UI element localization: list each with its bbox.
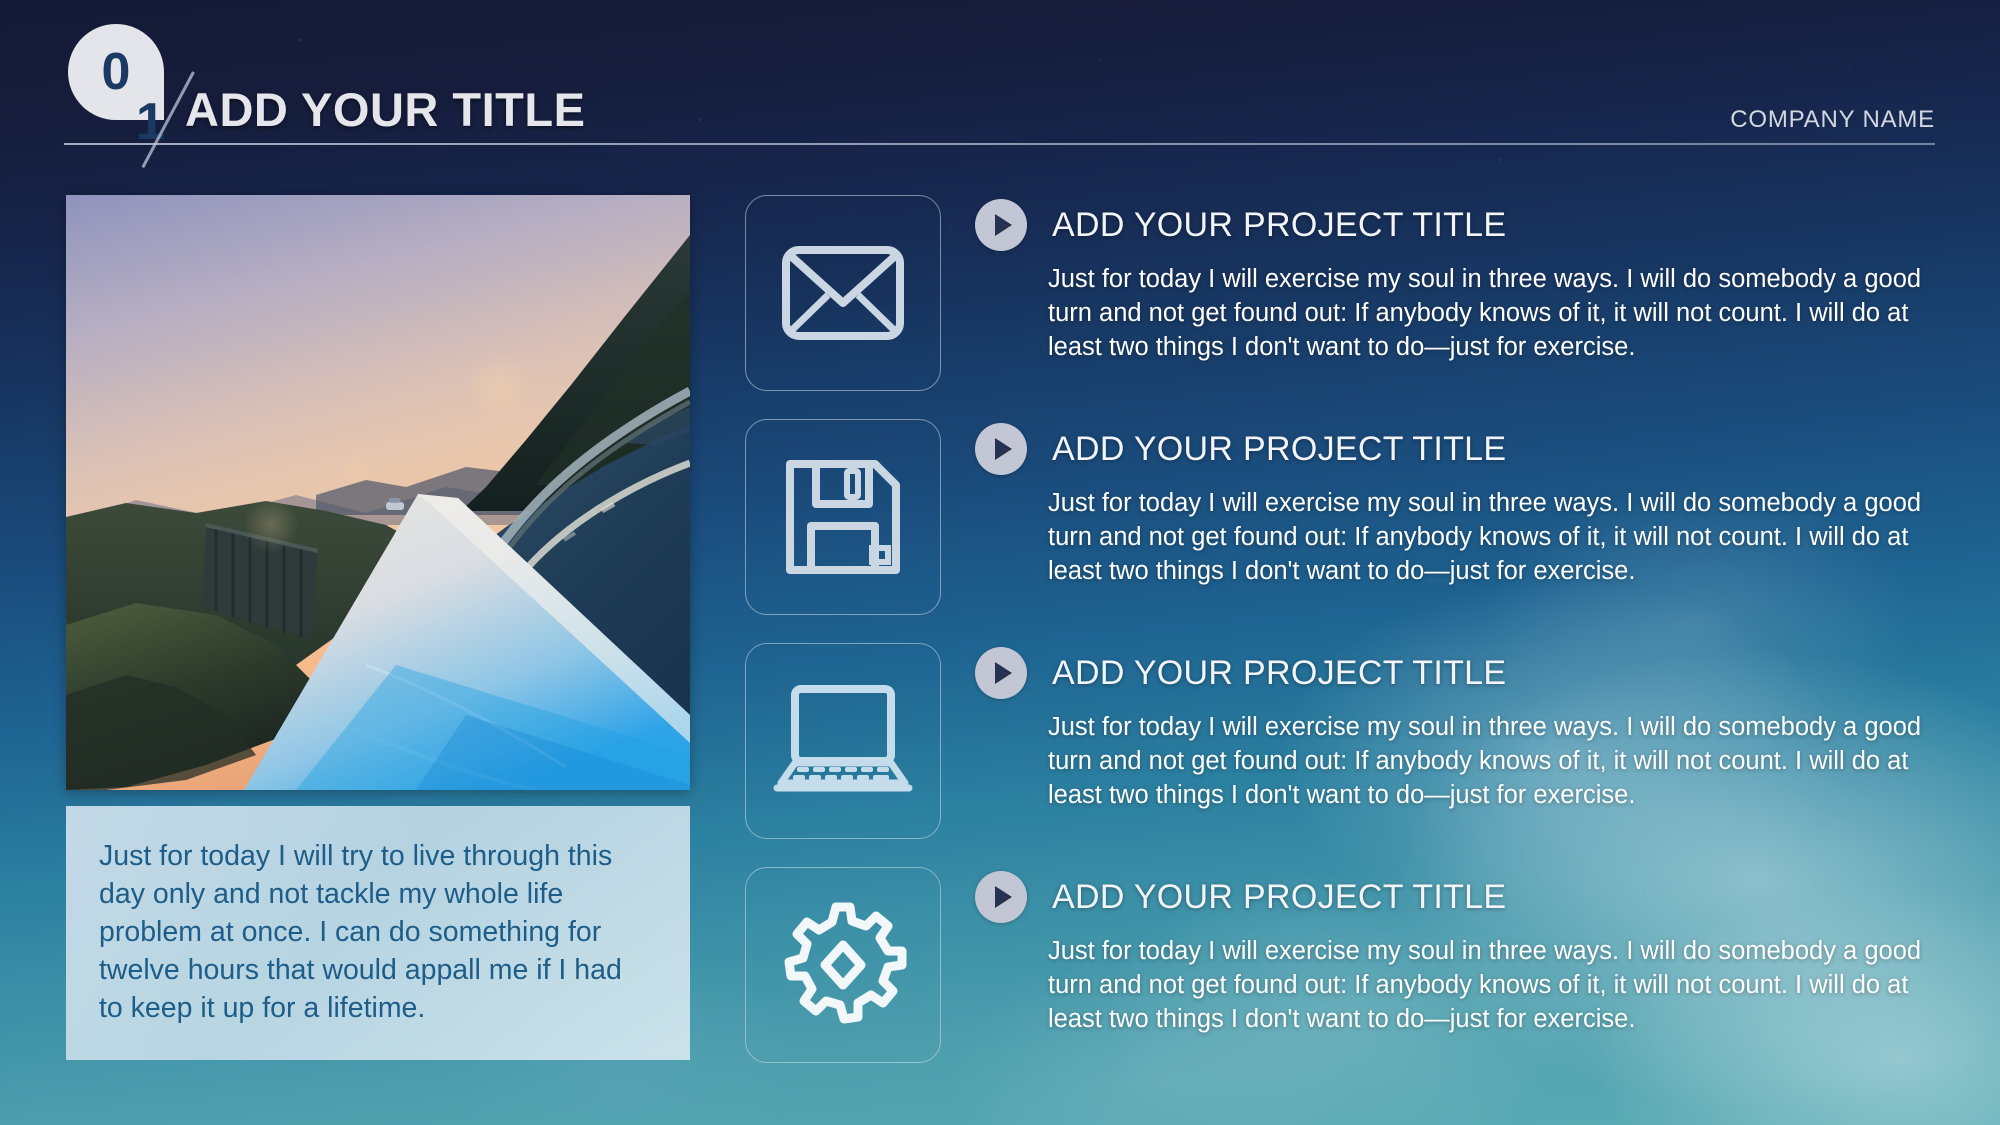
project-row: ADD YOUR PROJECT TITLE Just for today I … (975, 867, 1935, 1037)
header-divider-rule (64, 143, 1935, 145)
highway-sunset-image (66, 195, 690, 790)
project-row: ADD YOUR PROJECT TITLE Just for today I … (975, 195, 1935, 365)
project-title: ADD YOUR PROJECT TITLE (1052, 206, 1506, 245)
project-row-header: ADD YOUR PROJECT TITLE (975, 867, 1935, 927)
page-title: ADD YOUR TITLE (185, 82, 585, 137)
project-title: ADD YOUR PROJECT TITLE (1052, 430, 1506, 469)
project-row: ADD YOUR PROJECT TITLE Just for today I … (975, 643, 1935, 813)
project-row-header: ADD YOUR PROJECT TITLE (975, 419, 1935, 479)
gear-icon (779, 901, 907, 1029)
project-row-header: ADD YOUR PROJECT TITLE (975, 643, 1935, 703)
floppy-disk-icon (783, 457, 903, 577)
quote-panel: Just for today I will try to live throug… (66, 806, 690, 1060)
project-title: ADD YOUR PROJECT TITLE (1052, 878, 1506, 917)
project-body: Just for today I will exercise my soul i… (1048, 263, 1930, 365)
badge-number-bottom: 1 (136, 96, 165, 148)
company-name-label: COMPANY NAME (1730, 106, 1935, 134)
project-title: ADD YOUR PROJECT TITLE (1052, 654, 1506, 693)
project-body: Just for today I will exercise my soul i… (1048, 711, 1930, 813)
play-icon[interactable] (975, 199, 1027, 251)
project-row-header: ADD YOUR PROJECT TITLE (975, 195, 1935, 255)
project-body: Just for today I will exercise my soul i… (1048, 487, 1930, 589)
slide-header: 0 1 ADD YOUR TITLE COMPANY NAME (0, 0, 2000, 150)
play-icon[interactable] (975, 423, 1027, 475)
play-icon[interactable] (975, 647, 1027, 699)
slide: 0 1 ADD YOUR TITLE COMPANY NAME (0, 0, 2000, 1125)
feature-photo (66, 195, 690, 790)
slide-number-badge: 0 1 (64, 24, 174, 152)
icon-box-laptop[interactable] (745, 643, 941, 839)
envelope-icon (781, 245, 905, 341)
laptop-icon (773, 685, 913, 797)
quote-text: Just for today I will try to live throug… (66, 838, 690, 1027)
project-body: Just for today I will exercise my soul i… (1048, 935, 1930, 1037)
play-icon[interactable] (975, 871, 1027, 923)
icon-box-floppy-disk[interactable] (745, 419, 941, 615)
icon-box-gear[interactable] (745, 867, 941, 1063)
project-row: ADD YOUR PROJECT TITLE Just for today I … (975, 419, 1935, 589)
icon-box-envelope[interactable] (745, 195, 941, 391)
